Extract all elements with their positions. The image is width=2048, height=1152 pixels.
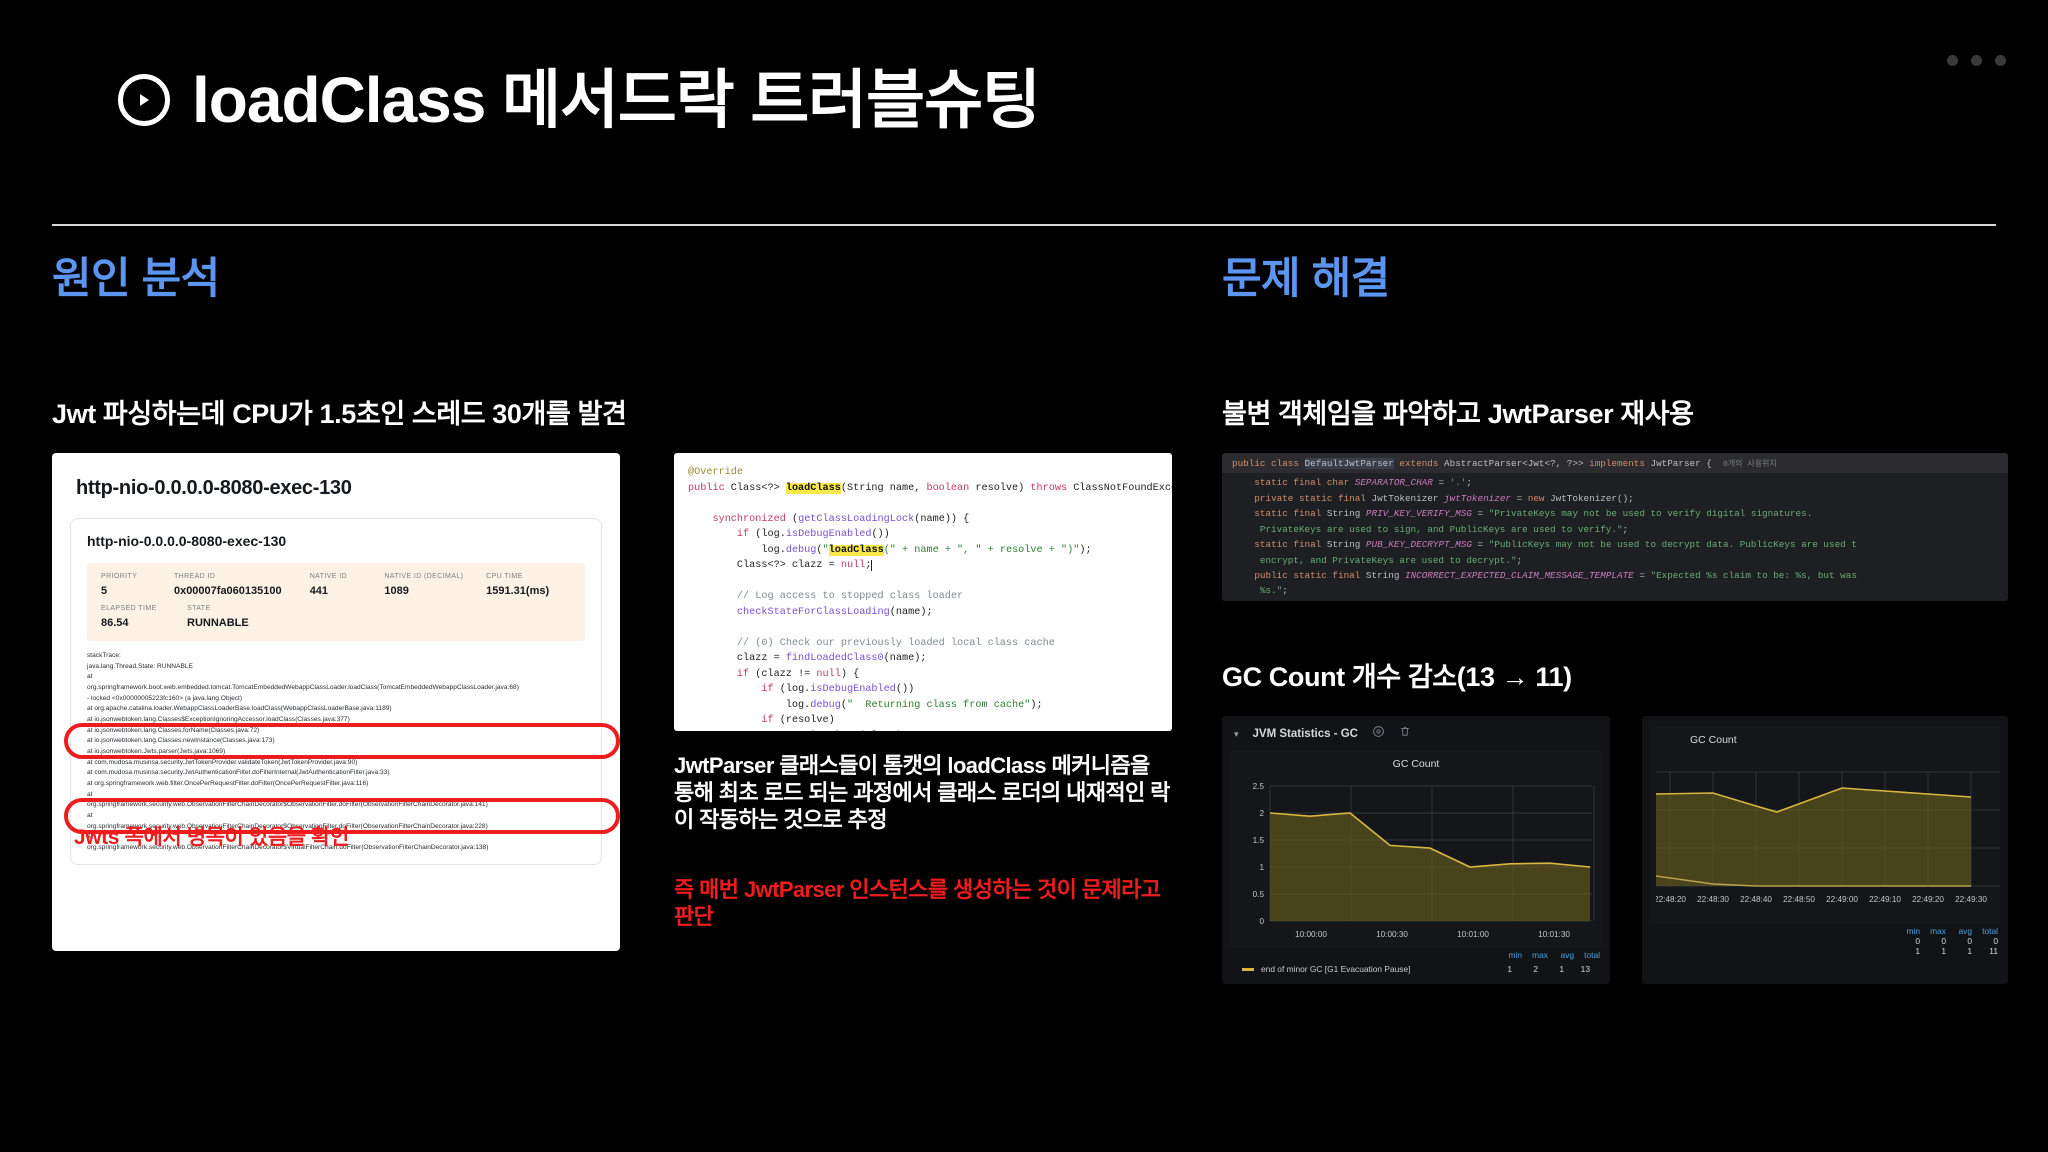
stat-total: 11 — [1972, 946, 1998, 956]
left-section-title: 원인 분석 — [52, 244, 1172, 306]
meta-value: RUNNABLE — [187, 617, 347, 629]
plot-container-after: GC Count — [1650, 726, 2000, 924]
svg-text:22:48:50: 22:48:50 — [1783, 895, 1815, 904]
trash-icon[interactable] — [1399, 725, 1411, 743]
stat-avg: 1 — [1538, 964, 1564, 974]
stat-min: 1 — [1486, 964, 1512, 974]
stack-trace-state: java.lang.Thread.State: RUNNABLE — [87, 662, 585, 673]
stat-max: 2 — [1512, 964, 1538, 974]
gc-count-area-chart-after: 22:48:20 22:48:30 22:48:40 22:48:50 22:4… — [1656, 750, 1994, 920]
thread-meta-row: ELAPSED TIME 86.54 STATE RUNNABLE — [101, 605, 571, 629]
meta-cpu-time: CPU TIME 1591.31(ms) — [486, 573, 571, 597]
panel-after-stats: min max avg total 0 0 0 0 1 1 1 — [1642, 924, 2008, 964]
meta-label: CPU TIME — [486, 573, 571, 580]
stack-line: at io.jsonwebtoken.lang.Classes$Exceptio… — [87, 715, 585, 726]
stat-header-max: max — [1522, 950, 1548, 960]
slide-header: loadClass 메서드락 트러블슈팅 — [118, 68, 1040, 132]
thread-meta-row: PRIORITY 5 THREAD ID 0x00007fa060135100 … — [101, 573, 571, 597]
svg-text:22:48:20: 22:48:20 — [1656, 895, 1686, 904]
stat-min: 1 — [1894, 946, 1920, 956]
stack-line: at — [87, 672, 585, 683]
panel-title: JVM Statistics - GC — [1253, 728, 1358, 740]
stats-row: 1 1 1 11 — [1652, 946, 1998, 956]
header-divider — [52, 224, 1996, 226]
right-section-title: 문제 해결 — [1222, 244, 2008, 306]
meta-label: NATIVE ID (DECIMAL) — [384, 573, 486, 580]
svg-text:0: 0 — [1259, 917, 1264, 926]
target-icon[interactable] — [1372, 725, 1385, 743]
svg-text:10:01:30: 10:01:30 — [1538, 930, 1570, 939]
svg-text:22:48:40: 22:48:40 — [1740, 895, 1772, 904]
stat-header-avg: avg — [1946, 926, 1972, 936]
chevron-down-icon[interactable]: ▾ — [1234, 729, 1239, 740]
meta-label: NATIVE ID — [310, 573, 385, 580]
stat-header-avg: avg — [1548, 950, 1574, 960]
slide-root: loadClass 메서드락 트러블슈팅 원인 분석 Jwt 파싱하는데 CPU… — [0, 0, 2048, 1152]
legend-row[interactable]: end of minor GC [G1 Evacuation Pause] 1 … — [1232, 960, 1600, 976]
stats-row: 0 0 0 0 — [1652, 936, 1998, 946]
panel-toolbar: ▾ JVM Statistics - GC — [1222, 716, 1610, 750]
stat-total: 13 — [1564, 964, 1590, 974]
gc-panel-before: ▾ JVM Statistics - GC GC Count — [1222, 716, 1610, 984]
plot-container-before: GC Count — [1230, 750, 1602, 948]
meta-label: STATE — [187, 605, 347, 612]
gc-charts-row: ▾ JVM Statistics - GC GC Count — [1222, 716, 2008, 984]
svg-text:10:00:00: 10:00:00 — [1295, 930, 1327, 939]
legend-swatch — [1242, 968, 1254, 971]
left-sub-title: Jwt 파싱하는데 CPU가 1.5초인 스레드 30개를 발견 — [52, 392, 1172, 431]
window-dot-1 — [1947, 55, 1958, 66]
meta-value: 86.54 — [101, 617, 187, 629]
meta-value: 1089 — [384, 585, 486, 597]
right-sub-title: 불변 객체임을 파악하고 JwtParser 재사용 — [1222, 392, 2008, 431]
svg-text:22:49:10: 22:49:10 — [1869, 895, 1901, 904]
stack-line: at org.springframework.web.filter.OncePe… — [87, 779, 585, 790]
thread-card-heading: http-nio-0.0.0.0-8080-exec-130 — [76, 477, 598, 500]
thread-meta-table: PRIORITY 5 THREAD ID 0x00007fa060135100 … — [87, 563, 585, 641]
stat-values: 1 2 1 13 — [1486, 964, 1590, 974]
meta-label: THREAD ID — [174, 573, 310, 580]
stat-total: 0 — [1972, 936, 1998, 946]
meta-thread-id: THREAD ID 0x00007fa060135100 — [174, 573, 310, 597]
stat-header-total: total — [1574, 950, 1600, 960]
meta-value: 441 — [310, 585, 385, 597]
plot-title: GC Count — [1656, 734, 1994, 746]
thread-dump-card: http-nio-0.0.0.0-8080-exec-130 http-nio-… — [52, 453, 620, 951]
page-title: loadClass 메서드락 트러블슈팅 — [192, 68, 1040, 132]
plot-title: GC Count — [1236, 758, 1596, 770]
svg-text:0.5: 0.5 — [1253, 890, 1265, 899]
meta-state: STATE RUNNABLE — [187, 605, 347, 629]
stat-avg: 1 — [1946, 946, 1972, 956]
svg-text:2: 2 — [1259, 809, 1264, 818]
svg-text:22:49:20: 22:49:20 — [1912, 895, 1944, 904]
stack-line: org.springframework.security.web.Observa… — [87, 800, 585, 811]
stat-header-max: max — [1920, 926, 1946, 936]
svg-text:22:49:00: 22:49:00 — [1826, 895, 1858, 904]
stack-line: at com.mudosa.musinsa.security.JwtAuthen… — [87, 768, 585, 779]
svg-text:2.5: 2.5 — [1253, 782, 1265, 791]
stack-line: at com.mudosa.musinsa.security.JwtTokenP… — [87, 758, 585, 769]
code-body: static final char SEPARATOR_CHAR = '.'; … — [1222, 473, 2008, 601]
stack-line: at io.jsonwebtoken.lang.Classes.newInsta… — [87, 736, 585, 747]
defaultjwtparser-code-snippet: public class DefaultJwtParser extends Ab… — [1222, 453, 2008, 601]
window-dot-2 — [1971, 55, 1982, 66]
stack-line: at — [87, 790, 585, 801]
code-first-line: public class DefaultJwtParser extends Ab… — [1222, 453, 2008, 473]
gc-count-title: GC Count 개수 감소(13 → 11) — [1222, 655, 2008, 694]
svg-text:1: 1 — [1259, 863, 1264, 872]
stats-header-row: min max avg total — [1232, 950, 1600, 960]
stack-line: at org.apache.catalina.loader.WebappClas… — [87, 704, 585, 715]
meta-value: 0x00007fa060135100 — [174, 585, 310, 597]
window-dot-3 — [1995, 55, 2006, 66]
stat-header-total: total — [1972, 926, 1998, 936]
legend-label: end of minor GC [G1 Evacuation Pause] — [1261, 964, 1410, 974]
meta-priority: PRIORITY 5 — [101, 573, 174, 597]
meta-native-id: NATIVE ID 441 — [310, 573, 385, 597]
stat-avg: 0 — [1946, 936, 1972, 946]
svg-text:10:00:30: 10:00:30 — [1376, 930, 1408, 939]
window-dots — [1947, 55, 2006, 66]
middle-note-red: 즉 매번 JwtParser 인스턴스를 생성하는 것이 문제라고 판단 — [674, 877, 1172, 931]
stat-header-min: min — [1496, 950, 1522, 960]
stack-line: org.springframework.boot.web.embedded.to… — [87, 683, 585, 694]
stat-min: 0 — [1894, 936, 1920, 946]
meta-elapsed-time: ELAPSED TIME 86.54 — [101, 605, 187, 629]
stack-line: - locked <0x00000005223fc160> (a java.la… — [87, 694, 585, 705]
svg-text:1.5: 1.5 — [1253, 836, 1265, 845]
gc-count-area-chart-before: 2.5 2 1.5 1 0.5 0 10:00:00 10:00:30 — [1236, 774, 1596, 944]
svg-text:22:49:30: 22:49:30 — [1955, 895, 1987, 904]
thread-card-inner: http-nio-0.0.0.0-8080-exec-130 PRIORITY … — [70, 518, 602, 865]
stat-header-min: min — [1894, 926, 1920, 936]
thread-card-red-note: Jwts 쪽에서 병목이 있음을 확인 — [74, 821, 349, 851]
svg-text:10:01:00: 10:01:00 — [1457, 930, 1489, 939]
loadclass-code-snippet: @Override public Class<?> loadClass(Stri… — [674, 453, 1172, 731]
right-column: 문제 해결 불변 객체임을 파악하고 JwtParser 재사용 public … — [1222, 244, 2008, 984]
usage-hint: 0개의 사용위치 — [1723, 460, 1777, 469]
meta-native-id-decimal: NATIVE ID (DECIMAL) 1089 — [384, 573, 486, 597]
stack-line: at io.jsonwebtoken.Jwts.parser(Jwts.java… — [87, 747, 585, 758]
stats-header-row: min max avg total — [1652, 926, 1998, 936]
stat-max: 1 — [1920, 946, 1946, 956]
middle-note-white: JwtParser 클래스들이 톰캣의 loadClass 메커니즘을 통해 최… — [674, 753, 1172, 833]
meta-value: 5 — [101, 585, 174, 597]
play-circle-icon — [118, 74, 170, 126]
meta-label: ELAPSED TIME — [101, 605, 187, 612]
stack-trace-label: stackTrace: — [87, 651, 585, 662]
stack-line: at io.jsonwebtoken.lang.Classes.forName(… — [87, 726, 585, 737]
meta-label: PRIORITY — [101, 573, 174, 580]
meta-value: 1591.31(ms) — [486, 585, 571, 597]
middle-column: @Override public Class<?> loadClass(Stri… — [674, 453, 1172, 931]
thread-inner-heading: http-nio-0.0.0.0-8080-exec-130 — [87, 533, 585, 549]
gc-panel-after: GC Count — [1642, 716, 2008, 984]
svg-text:22:48:30: 22:48:30 — [1697, 895, 1729, 904]
stat-max: 0 — [1920, 936, 1946, 946]
panel-before-stats: min max avg total end of minor GC [G1 Ev… — [1222, 948, 1610, 984]
left-column: 원인 분석 Jwt 파싱하는데 CPU가 1.5초인 스레드 30개를 발견 h… — [52, 244, 1172, 951]
